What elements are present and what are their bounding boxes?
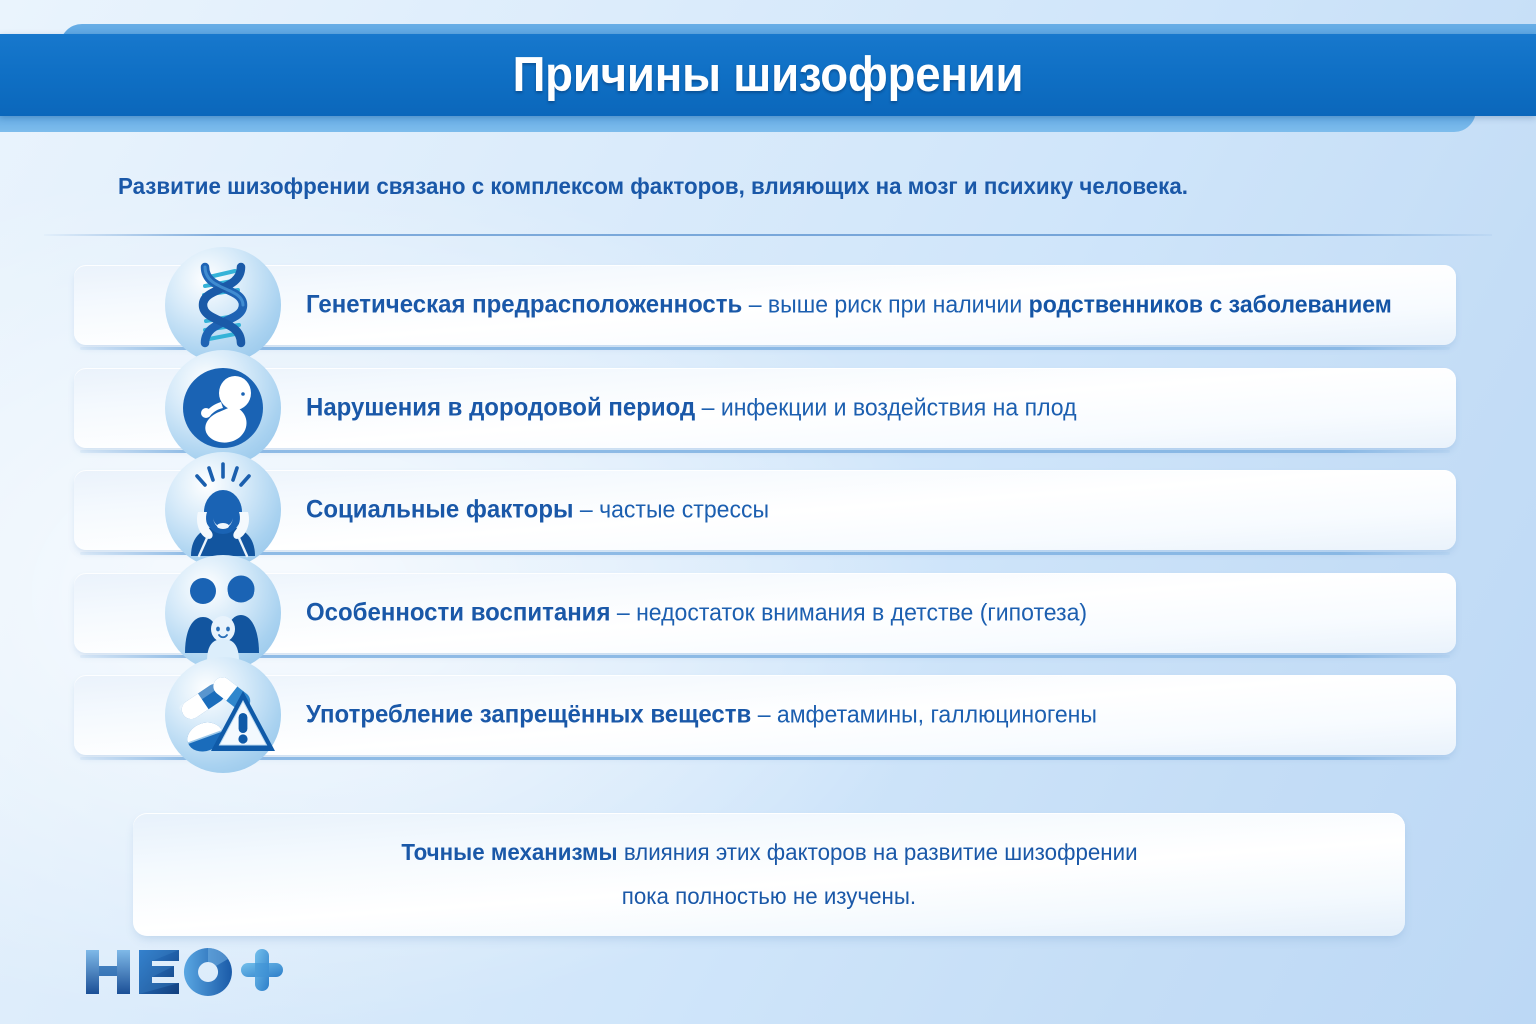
fetus-icon (165, 350, 281, 466)
factor-text: Нарушения в дородовой период – инфекции … (306, 393, 1077, 422)
conclusion-line-2: пока полностью не изучены. (622, 883, 916, 910)
card-underline (80, 757, 1450, 760)
card-underline (80, 552, 1450, 555)
factor-icon-wrap (165, 657, 281, 773)
dna-icon (165, 247, 281, 363)
factor-rest: – недостаток внимания в детстве (гипотез… (610, 599, 1087, 626)
factor-rest: – частые стрессы (573, 497, 769, 524)
card-underline (80, 450, 1450, 453)
factor-lead: Генетическая предрасположенность (306, 291, 742, 319)
family-icon (165, 555, 281, 671)
infographic-canvas: Причины шизофрении Развитие шизофрении с… (0, 0, 1536, 1024)
factor-row[interactable]: Употребление запрещённых веществ – амфет… (74, 675, 1456, 755)
factor-text: Употребление запрещённых веществ – амфет… (306, 701, 1097, 730)
factor-text: Генетическая предрасположенность – выше … (306, 291, 1392, 320)
factor-rest: – выше риск при наличии (742, 292, 1028, 319)
factor-lead: Особенности воспитания (306, 598, 610, 626)
factor-icon-wrap (165, 452, 281, 568)
card-underline (80, 347, 1450, 350)
card-underline (80, 655, 1450, 658)
factor-text: Особенности воспитания – недостаток вним… (306, 598, 1087, 627)
conclusion-card: Точные механизмы влияния этих факторов н… (133, 813, 1405, 936)
brand-logo[interactable] (84, 944, 284, 1000)
factor-icon-wrap (165, 247, 281, 363)
factor-icon-wrap (165, 555, 281, 671)
factor-rest: – инфекции и воздействия на плод (695, 394, 1076, 421)
factor-lead: Нарушения в дородовой период (306, 393, 695, 421)
neo-plus-logo-icon (84, 944, 284, 1000)
factor-rest: – амфетамины, галлюциногены (751, 702, 1097, 729)
factor-row[interactable]: Нарушения в дородовой период – инфекции … (74, 368, 1456, 448)
factor-row[interactable]: Генетическая предрасположенность – выше … (74, 265, 1456, 345)
conclusion-rest: влияния этих факторов на развитие шизофр… (617, 839, 1137, 865)
factor-highlight: родственников с заболеванием (1029, 292, 1392, 319)
conclusion-bold: Точные механизмы (401, 839, 617, 865)
factor-row[interactable]: Особенности воспитания – недостаток вним… (74, 573, 1456, 653)
pills-warning-icon (165, 657, 281, 773)
factor-row[interactable]: Социальные факторы – частые стрессы (74, 470, 1456, 550)
factor-icon-wrap (165, 350, 281, 466)
factor-lead: Социальные факторы (306, 496, 573, 524)
conclusion-line-1: Точные механизмы влияния этих факторов н… (401, 839, 1137, 866)
factor-lead: Употребление запрещённых веществ (306, 701, 751, 729)
stress-head-icon (165, 452, 281, 568)
factor-text: Социальные факторы – частые стрессы (306, 496, 769, 525)
